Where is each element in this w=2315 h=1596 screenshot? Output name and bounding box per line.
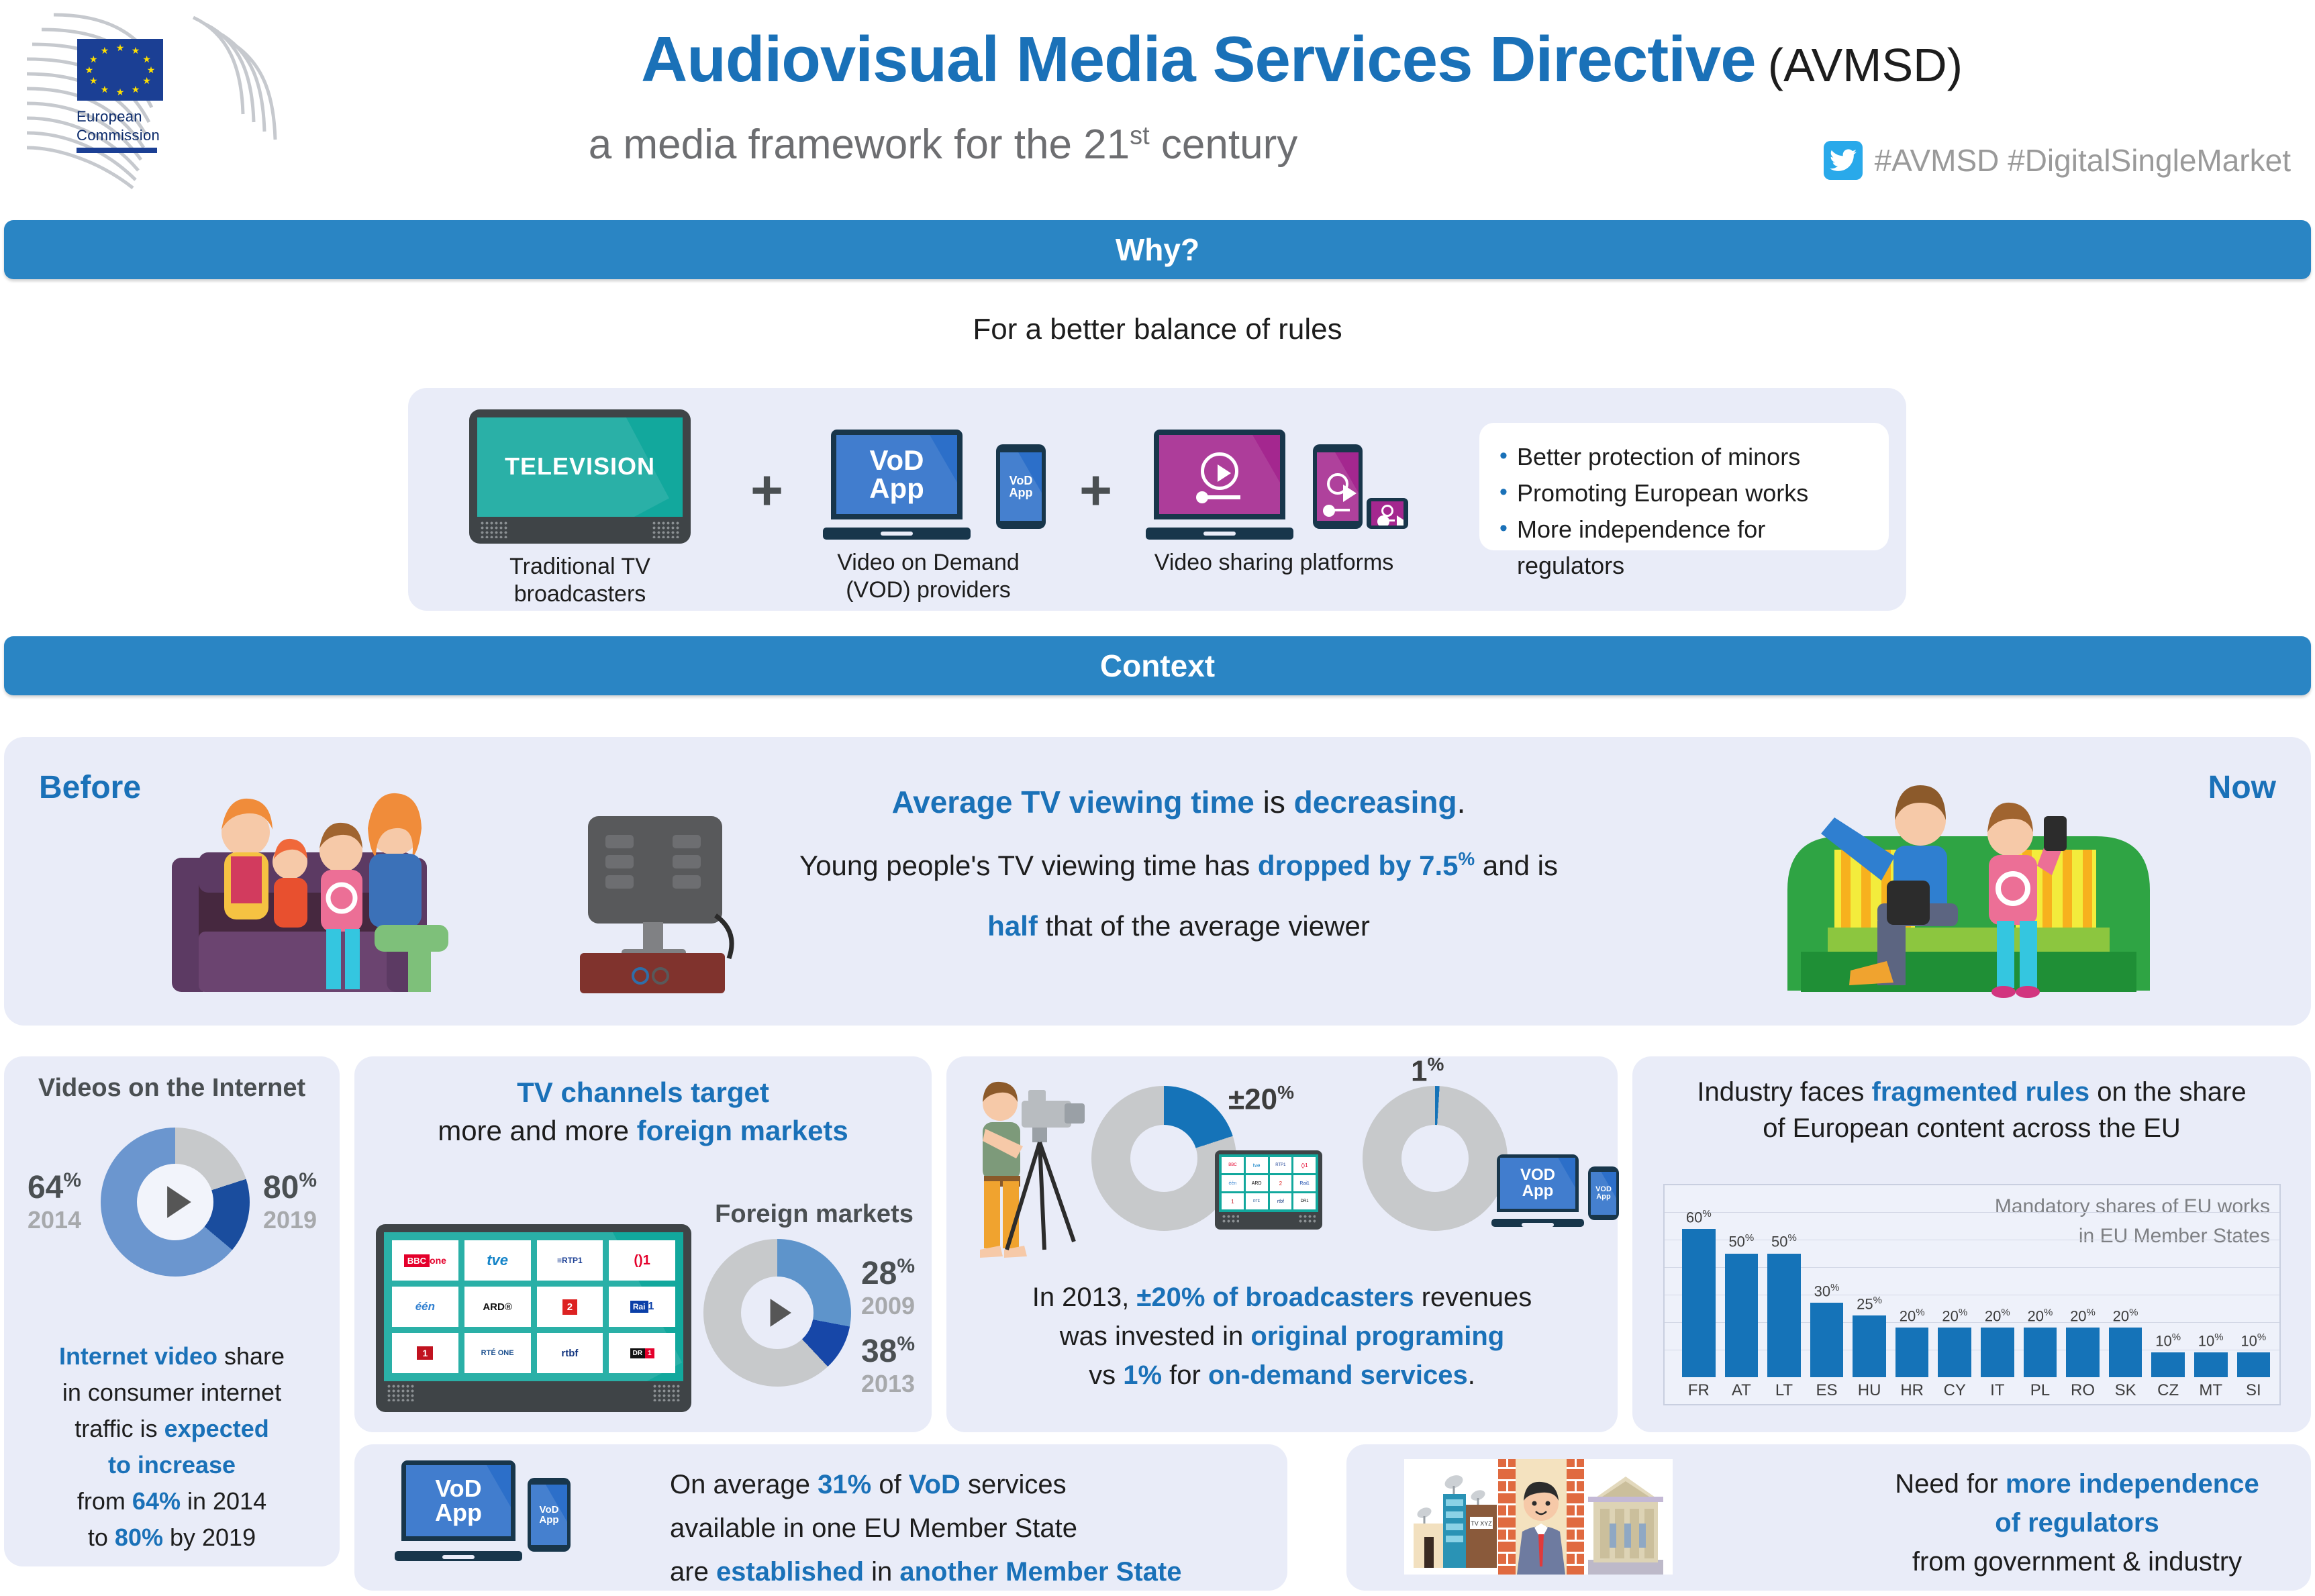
vod-t5: services [961, 1470, 1067, 1499]
bar [2194, 1352, 2228, 1377]
bar-category-label: PL [2024, 1381, 2057, 1400]
rev-vod-phone-content: VODApp [1591, 1172, 1616, 1215]
bar-axis-labels: FRATLTESHUHRCYITPLROSKCZMTSI [1682, 1381, 2270, 1400]
vod-t2: 31% [818, 1470, 871, 1499]
vod-devices-small: VODApp VODApp [1497, 1154, 1619, 1227]
panel-tv-channels: TV channels target more and more foreign… [354, 1056, 932, 1432]
vod-panel-laptop: VoDApp [401, 1460, 522, 1561]
regulator-scene-svg: TV XYZ [1404, 1459, 1673, 1575]
page-title: Audiovisual Media Services Directive [641, 23, 1756, 97]
twitter-bird-icon[interactable] [1824, 141, 1863, 180]
tv-screen: TELEVISION [477, 417, 683, 517]
vid-txt-8: 64% [132, 1487, 181, 1515]
vid-txt-10: to [88, 1524, 115, 1551]
reg-t1: Need for [1895, 1469, 2006, 1499]
context-line1-bold-a: Average TV viewing time [892, 785, 1254, 819]
vod-panel-label-large: VoDApp [406, 1465, 511, 1536]
vid-txt-3: in consumer internet [17, 1375, 326, 1411]
context-line1-bold-b: decreasing [1294, 785, 1457, 819]
tv-with-channel-logos-illustration: BBCone tve ≡RTP1 ()1 één ARD® 2 Rai1 1 R… [376, 1224, 691, 1412]
progress-bar-large-icon [1199, 495, 1240, 499]
ec-wave-graphic [27, 7, 309, 208]
rev-t2: ±20% of broadcasters [1136, 1283, 1414, 1312]
bars-head-4: of European content across the EU [1632, 1110, 2311, 1146]
benefit-item-1: Better protection of minors [1499, 439, 1869, 475]
bar-column: 20% [2024, 1204, 2057, 1377]
channel-logo-ct1: ()1 [609, 1240, 675, 1281]
bar [2237, 1352, 2271, 1377]
device-label-tv: Traditional TV broadcasters [452, 553, 707, 609]
bar-value-label: 50% [1771, 1232, 1797, 1250]
title-block: Audiovisual Media Services Directive(AVM… [289, 23, 2315, 97]
device-label-sharing: Video sharing platforms [1140, 549, 1408, 577]
bar-column: 50% [1767, 1204, 1801, 1377]
ec-logo-rule [77, 148, 157, 153]
foreign-2013-year: 2013 [851, 1370, 925, 1398]
vid-txt-11: 80% [115, 1524, 163, 1551]
bar-category-label: CZ [2151, 1381, 2185, 1400]
channel-logo-tve: tve [464, 1240, 531, 1281]
vod-laptop-illustration: VoDApp [831, 430, 972, 540]
bar [2024, 1328, 2057, 1377]
rev-vod-laptop-screen: VODApp [1497, 1154, 1579, 1212]
foreign-markets-title: Foreign markets [703, 1200, 925, 1229]
bar-category-label: SI [2237, 1381, 2271, 1400]
vid-txt-4: traffic is [75, 1415, 164, 1442]
videos-right-year: 2019 [244, 1206, 336, 1234]
rev-vod-laptop-content: VODApp [1500, 1158, 1575, 1209]
why-content-box: TELEVISION Traditional TV broadcasters +… [408, 388, 1906, 611]
bar-value-label: 60% [1686, 1208, 1712, 1226]
panel-regulator-independence: TV XYZ [1346, 1444, 2311, 1591]
tv-head-2: more and more [438, 1115, 636, 1146]
device-label-vod-line1: Video on Demand [811, 549, 1046, 577]
vod-panel-description: On average 31% of VoD services available… [670, 1463, 1181, 1593]
tv-head-3: foreign markets [637, 1115, 848, 1146]
context-line-1: Average TV viewing time is decreasing. [776, 784, 1581, 820]
vod-t4: VoD [909, 1470, 961, 1499]
why-subheading: For a better balance of rules [0, 313, 2315, 346]
bar-series: 60%50%50%30%25%20%20%20%20%20%20%10%10%1… [1682, 1204, 2270, 1377]
mini-grill-left-icon [1222, 1214, 1239, 1224]
device-vod: VoDApp VoDApp Video on Demand ( [811, 420, 1046, 605]
bars-head-1: Industry faces [1697, 1077, 1871, 1107]
foreign-stat-2009: 28% 2009 [851, 1255, 925, 1320]
channel-logo-dr1: DR1 [609, 1333, 675, 1373]
bar-category-label: CY [1938, 1381, 1971, 1400]
benefit-item-2: Promoting European works [1499, 475, 1869, 511]
mini-logo-3: RTP1 [1270, 1157, 1292, 1173]
reg-t4: from government & industry [1863, 1542, 2291, 1581]
subtitle-ordinal: st [1130, 121, 1150, 150]
label-before: Before [39, 769, 141, 806]
european-commission-logo: ★ ★ ★ ★ ★ ★ ★ ★ ★ ★ ★ ★ European Commiss… [27, 7, 289, 201]
channel-logo-rte-one: RTÉ ONE [464, 1333, 531, 1373]
bar [1725, 1254, 1759, 1377]
videos-left-value: 64% [11, 1169, 98, 1206]
vod-t7: are [670, 1557, 716, 1587]
subtitle-pre: a media framework for the 21 [589, 121, 1130, 168]
videos-left-stat: 64% 2014 [11, 1169, 98, 1234]
mini-logo-10: RTÉ [1246, 1193, 1268, 1209]
eu-works-bar-chart: Mandatory shares of EU works in EU Membe… [1663, 1184, 2281, 1405]
vod-t1: On average [670, 1470, 818, 1499]
bar-category-label: MT [2194, 1381, 2228, 1400]
rev-donut-hole-1 [1130, 1125, 1197, 1192]
bar [2066, 1328, 2100, 1377]
regulator-illustration: TV XYZ [1404, 1459, 1673, 1575]
mini-logo-11: rtbf [1270, 1193, 1292, 1209]
bar [1895, 1328, 1929, 1377]
bar [1767, 1254, 1801, 1377]
bars-head-3: on the share [2089, 1077, 2247, 1107]
reg-t2: more independence [2006, 1469, 2259, 1499]
bar-value-label: 10% [2198, 1332, 2224, 1350]
regulator-description: Need for more independence of regulators… [1863, 1464, 2291, 1581]
mini-logo-1: BBC [1222, 1157, 1244, 1173]
channel-logo-france2: 2 [537, 1287, 603, 1327]
plus-icon-1: + [750, 462, 783, 518]
tv-logo-grid: BBCone tve ≡RTP1 ()1 één ARD® 2 Rai1 1 R… [384, 1232, 683, 1381]
page-subtitle: a media framework for the 21st century [289, 121, 1597, 168]
couple-with-devices-illustration [1761, 769, 2177, 1004]
plus-icon-2: + [1079, 462, 1112, 518]
mini-logo-5: één [1222, 1175, 1244, 1191]
rev-vod-laptop-base [1491, 1219, 1584, 1227]
context-line2-plain-b: and is [1475, 850, 1558, 881]
context-line1-plain: is [1254, 785, 1294, 819]
rev-vod-label: VODApp [1500, 1158, 1575, 1209]
bar-column: 20% [1938, 1204, 1971, 1377]
tv-head-1: TV channels target [354, 1074, 932, 1112]
rev-t8: for [1162, 1360, 1208, 1390]
videos-right-value: 80% [244, 1169, 336, 1206]
twitter-hashtags[interactable]: #AVMSD #DigitalSingleMarket [1824, 141, 2291, 180]
channel-logo-rtp1: ≡RTP1 [537, 1240, 603, 1281]
subtitle-post: century [1150, 121, 1298, 168]
bar-category-label: AT [1725, 1381, 1759, 1400]
foreign-stat-2013: 38% 2013 [851, 1333, 925, 1398]
bar-value-label: 20% [2113, 1307, 2138, 1325]
bar-category-label: RO [2066, 1381, 2100, 1400]
mini-logo-2: tve [1246, 1157, 1268, 1173]
bar-value-label: 20% [1900, 1307, 1925, 1325]
mini-logo-8: Rai1 [1293, 1175, 1316, 1191]
bar-column: 20% [1895, 1204, 1929, 1377]
sharing-laptop-illustration [1154, 430, 1295, 540]
speaker-grill-right-icon [652, 521, 680, 538]
on-demand-donut-chart [1363, 1086, 1508, 1231]
tv-speaker-bar-large [384, 1381, 683, 1404]
bar-value-label: 30% [1814, 1282, 1840, 1300]
bars-head-2: fragmented rules [1872, 1077, 2090, 1107]
cameraman-illustration [965, 1074, 1093, 1275]
tv-panel-heading: TV channels target more and more foreign… [354, 1074, 932, 1150]
rev-t9: on-demand services [1208, 1360, 1468, 1390]
rev-t6: vs [1089, 1360, 1123, 1390]
internet-video-donut-chart [101, 1128, 250, 1277]
sharing-laptop-content [1159, 435, 1280, 514]
rev-vod-phone: VODApp [1588, 1166, 1619, 1220]
speaker-grill-left-icon [480, 521, 508, 538]
bar-column: 50% [1725, 1204, 1759, 1377]
bar-category-label: LT [1767, 1381, 1801, 1400]
rev-t4: was invested in [1060, 1321, 1251, 1351]
tv-screen-label: TELEVISION [477, 452, 683, 481]
tv-speaker-bar [477, 517, 683, 544]
context-content-box: Before Now [4, 737, 2311, 1026]
bar-value-label: 10% [2240, 1332, 2266, 1350]
bar-category-label: ES [1810, 1381, 1844, 1400]
vid-txt-2: share [217, 1342, 285, 1370]
context-line3-plain: that of the average viewer [1038, 910, 1370, 942]
play-circle-icon-large [1201, 452, 1238, 490]
device-traditional-tv: TELEVISION Traditional TV broadcasters [452, 409, 707, 609]
progress-bar-medium-icon [1326, 509, 1350, 511]
mini-logo-12: DR1 [1293, 1193, 1316, 1209]
revenue-donut1-label: ±20% [1228, 1082, 1294, 1117]
rev-donut-hole-2 [1401, 1125, 1469, 1192]
panel-vod-establishment: VoDApp VoDApp On average 31% of VoD serv… [354, 1444, 1287, 1591]
vod-phone-illustration: VoDApp [996, 444, 1046, 529]
vod-panel-laptop-screen: VoDApp [401, 1460, 515, 1541]
vid-txt-12: by 2019 [163, 1524, 256, 1551]
mini-logo-4: ()1 [1293, 1157, 1316, 1173]
bar-category-label: SK [2109, 1381, 2142, 1400]
page-header: ★ ★ ★ ★ ★ ★ ★ ★ ★ ★ ★ ★ European Commiss… [0, 0, 2315, 213]
channel-logo-rtbf: rtbf [537, 1333, 603, 1373]
speaker-grill-left-icon-large [387, 1384, 415, 1401]
vod-t3: of [871, 1470, 909, 1499]
mini-logo-7: 2 [1270, 1175, 1292, 1191]
bar-column: 60% [1682, 1204, 1716, 1377]
revenue-donut2-label: 1% [1411, 1054, 1444, 1089]
phone-screen-content: VoDApp [1000, 452, 1042, 521]
speaker-grill-right-icon-large [652, 1384, 681, 1401]
bar-category-label: IT [1981, 1381, 2014, 1400]
laptop-screen: VoDApp [831, 430, 963, 519]
bar-category-label: FR [1682, 1381, 1716, 1400]
rev-vod-phone-label: VODApp [1591, 1172, 1616, 1215]
bar-category-label: HR [1895, 1381, 1929, 1400]
bar [1981, 1328, 2014, 1377]
bar-column: 20% [2066, 1204, 2100, 1377]
revenue-description: In 2013, ±20% of broadcasters revenues w… [967, 1278, 1597, 1395]
panel-fragmented-rules: Industry faces fragmented rules on the s… [1632, 1056, 2311, 1432]
vod-app-label-small: VoDApp [1000, 452, 1042, 521]
bar-column: 25% [1853, 1204, 1886, 1377]
channel-logo-ard: ARD® [464, 1287, 531, 1327]
foreign-2013-value: 38% [851, 1333, 925, 1370]
bar-column: 30% [1810, 1204, 1844, 1377]
bar [2109, 1328, 2142, 1377]
bar-column: 20% [1981, 1204, 2014, 1377]
channel-logo-rai1: Rai1 [609, 1287, 675, 1327]
ec-logo-line2: Commission [77, 126, 160, 145]
videos-left-year: 2014 [11, 1206, 98, 1234]
context-line2-bold: dropped by 7.5 [1258, 850, 1459, 881]
page-title-abbreviation: (AVMSD) [1768, 38, 1963, 92]
vod-panel-devices: VoDApp VoDApp [401, 1460, 571, 1561]
panel-broadcaster-revenues: ±20% BBC tve RTP1 ()1 één ARD 2 Rai1 1 R… [946, 1056, 1618, 1432]
bar-value-label: 10% [2155, 1332, 2181, 1350]
vid-txt-5: expected [164, 1415, 269, 1442]
vod-t10: another Member State [899, 1557, 1181, 1587]
bar-value-label: 20% [1942, 1307, 1967, 1325]
bar-value-label: 20% [2027, 1307, 2053, 1325]
vod-panel-laptop-content: VoDApp [406, 1465, 511, 1536]
laptop-screen-content: VoDApp [836, 435, 957, 514]
laptop-base [823, 528, 971, 540]
bar [2151, 1352, 2185, 1377]
why-benefits-card: Better protection of minors Promoting Eu… [1479, 423, 1889, 550]
rev-t5: original programing [1250, 1321, 1504, 1351]
vod-panel-phone-content: VoDApp [531, 1485, 567, 1545]
mini-logo-9: 1 [1222, 1193, 1244, 1209]
tv-small-illustration: BBC tve RTP1 ()1 één ARD 2 Rai1 1 RTÉ rt… [1215, 1150, 1322, 1230]
context-line1-dot: . [1457, 785, 1466, 819]
vid-txt-7: from [77, 1487, 132, 1515]
sharing-phone-illustration [1313, 444, 1363, 529]
reg-t3: of regulators [1863, 1503, 2291, 1542]
rev-t7: 1% [1123, 1360, 1162, 1390]
family-watching-tv-illustration [158, 777, 749, 1005]
vod-panel-phone: VoDApp [528, 1478, 571, 1552]
context-line-2: Young people's TV viewing time has dropp… [776, 848, 1581, 882]
context-line2-pct: % [1459, 848, 1475, 869]
bar-value-label: 50% [1728, 1232, 1754, 1250]
tv-illustration: TELEVISION [469, 409, 691, 544]
hashtag-text[interactable]: #AVMSD #DigitalSingleMarket [1875, 142, 2291, 179]
foreign-2009-year: 2009 [851, 1292, 925, 1320]
context-line3-bold: half [987, 910, 1038, 942]
bar-value-label: 20% [1985, 1307, 2010, 1325]
ec-logo-text: European Commission [77, 107, 160, 144]
vid-txt-9: in 2014 [181, 1487, 266, 1515]
label-now: Now [2208, 769, 2276, 806]
videos-panel-title: Videos on the Internet [4, 1074, 340, 1103]
videos-panel-description: Internet video share in consumer interne… [17, 1338, 326, 1556]
section-banner-context: Context [4, 636, 2311, 695]
sharing-laptop-screen [1154, 430, 1285, 519]
vid-txt-1: Internet video [59, 1342, 217, 1370]
vod-t6: available in one EU Member State [670, 1507, 1181, 1550]
foreign-2009-value: 28% [851, 1255, 925, 1292]
vod-t8: established [716, 1557, 864, 1587]
bar [1810, 1303, 1844, 1377]
videos-right-stat: 80% 2019 [244, 1169, 336, 1234]
vod-t9: in [864, 1557, 899, 1587]
vod-app-label-large: VoDApp [836, 435, 957, 514]
device-video-sharing: Video sharing platforms [1140, 420, 1408, 577]
vid-txt-6: to increase [17, 1447, 326, 1483]
channel-logo-bnt1: 1 [392, 1333, 458, 1373]
panel-videos-on-internet: Videos on the Internet 64% 2014 80% 2019… [4, 1056, 340, 1566]
rev-t10: . [1468, 1360, 1475, 1390]
rev-t1: In 2013, [1032, 1283, 1137, 1312]
device-label-vod: Video on Demand (VOD) providers [811, 549, 1046, 605]
context-text-block: Average TV viewing time is decreasing. Y… [776, 784, 1581, 942]
device-label-vod-line2: (VOD) providers [811, 577, 1046, 604]
bar-value-label: 20% [2070, 1307, 2096, 1325]
foreign-markets-donut-chart [703, 1239, 851, 1387]
sharing-phone-content [1317, 452, 1359, 521]
bar [1682, 1229, 1716, 1377]
vod-panel-laptop-base [395, 1551, 522, 1561]
context-line2-plain-a: Young people's TV viewing time has [799, 850, 1258, 881]
section-banner-why: Why? [4, 220, 2311, 279]
bar-column: 10% [2237, 1204, 2271, 1377]
rev-t3: revenues [1414, 1283, 1532, 1312]
sharing-laptop-base [1146, 528, 1293, 540]
bar-value-label: 25% [1857, 1295, 1882, 1313]
bars-panel-heading: Industry faces fragmented rules on the s… [1632, 1074, 2311, 1146]
bar [1938, 1328, 1971, 1377]
sharing-minitab-content [1371, 501, 1403, 526]
progress-bar-small-icon [1380, 519, 1395, 521]
tv-station-label: TV XYZ [1471, 1520, 1492, 1527]
vod-panel-label-small: VoDApp [531, 1485, 567, 1545]
bar-column: 20% [2109, 1204, 2142, 1377]
benefit-item-3: More independence for regulators [1499, 511, 1869, 584]
eu-flag-icon: ★ ★ ★ ★ ★ ★ ★ ★ ★ ★ ★ ★ [77, 39, 163, 101]
play-circle-icon-medium [1327, 473, 1348, 495]
infographic-page: ★ ★ ★ ★ ★ ★ ★ ★ ★ ★ ★ ★ European Commiss… [0, 0, 2315, 1596]
bar [1853, 1315, 1886, 1377]
bar-column: 10% [2194, 1204, 2228, 1377]
channel-logo-bbc-one: BBCone [392, 1240, 458, 1281]
ec-logo-line1: European [77, 107, 160, 126]
sharing-minitab-illustration [1367, 498, 1408, 529]
bar-column: 10% [2151, 1204, 2185, 1377]
bar-category-label: HU [1853, 1381, 1886, 1400]
rev-vod-laptop: VODApp [1497, 1154, 1584, 1227]
context-line-3: half that of the average viewer [776, 910, 1581, 942]
mini-grill-right-icon [1298, 1214, 1316, 1224]
mini-logo-6: ARD [1246, 1175, 1268, 1191]
channel-logo-een: één [392, 1287, 458, 1327]
